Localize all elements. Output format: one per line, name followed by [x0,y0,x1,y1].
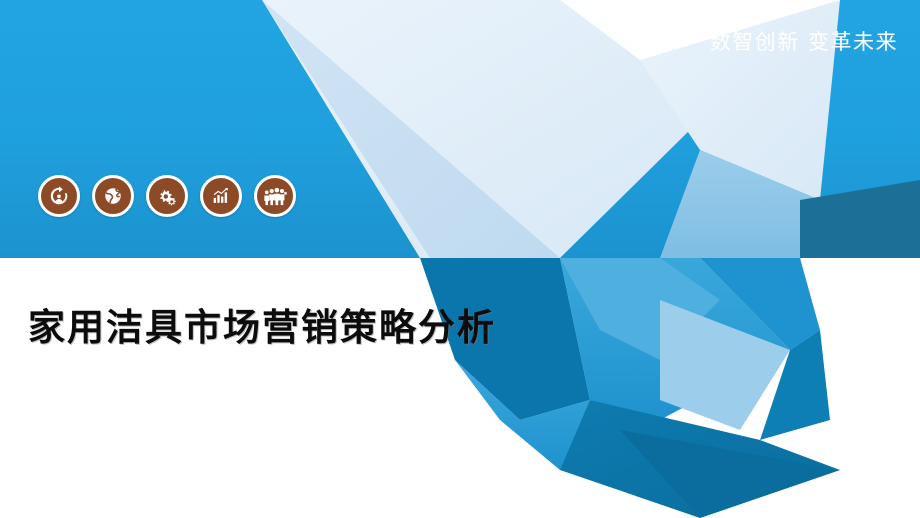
bar-chart-icon[interactable] [200,175,242,217]
slide-tagline: 数智创新 变革未来 [710,26,898,56]
gears-icon[interactable] [146,175,188,217]
refresh-person-icon[interactable] [38,175,80,217]
icon-strip [38,175,296,217]
slide-canvas: 数智创新 变革未来 [0,0,920,518]
low-poly-artwork [0,0,920,518]
people-group-icon[interactable] [254,175,296,217]
page-title: 家用洁具市场营销策略分析 [28,297,496,351]
globe-icon[interactable] [92,175,134,217]
